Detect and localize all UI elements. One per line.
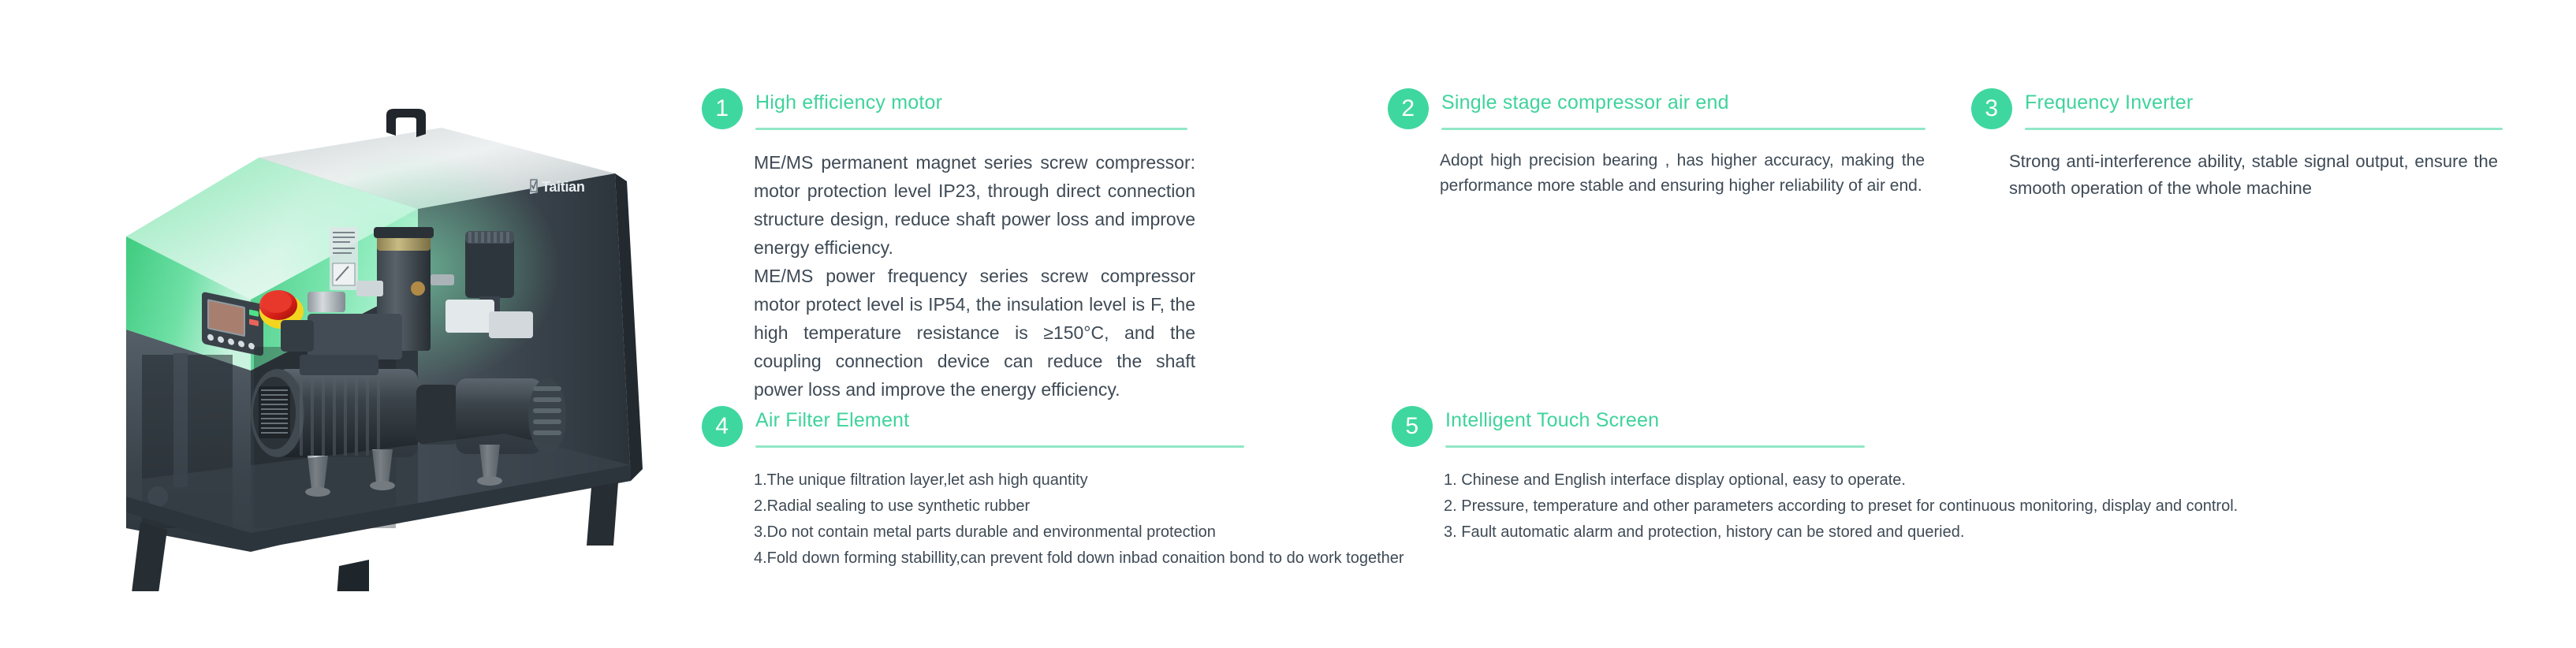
feature-3-header: 3 Frequency Inverter xyxy=(1971,88,2523,134)
feature-2-paragraph-1: Adopt high precision bearing , has highe… xyxy=(1440,148,1925,199)
compressor-illustration: Taitian xyxy=(47,39,678,591)
feature-2-header: 2 Single stage compressor air end xyxy=(1388,88,1924,134)
feature-3-divider xyxy=(2025,128,2503,130)
feature-1-paragraph-1: ME/MS permanent magnet series screw comp… xyxy=(754,148,1195,262)
svg-text:Taitian: Taitian xyxy=(542,179,585,195)
list-item: 4.Fold down forming stabillity,can preve… xyxy=(754,546,1356,572)
leg-front-right xyxy=(334,560,369,591)
feature-block-4: 4 Air Filter Element 1.The unique filtra… xyxy=(702,406,1356,587)
list-item: 1. Chinese and English interface display… xyxy=(1444,467,2180,493)
feature-block-1: 1 High efficiency motor ME/MS permanent … xyxy=(702,88,1199,404)
feature-2-title: Single stage compressor air end xyxy=(1441,91,1729,114)
feature-5-title: Intelligent Touch Screen xyxy=(1445,409,1659,432)
feature-2-divider xyxy=(1441,128,1925,130)
feature-4-header: 4 Air Filter Element xyxy=(702,406,1356,452)
feature-block-3: 3 Frequency Inverter Strong anti-interfe… xyxy=(1971,88,2523,202)
feature-1-paragraph-2: ME/MS power frequency series screw compr… xyxy=(754,262,1195,404)
feature-5-divider xyxy=(1445,445,1865,448)
feature-1-header: 1 High efficiency motor xyxy=(702,88,1199,134)
feature-3-body: Strong anti-interference ability, stable… xyxy=(2009,148,2498,202)
list-item: 1.The unique filtration layer,let ash hi… xyxy=(754,467,1356,493)
feature-1-title: High efficiency motor xyxy=(755,91,942,114)
feature-5-header: 5 Intelligent Touch Screen xyxy=(1392,406,2180,452)
leg-front-left xyxy=(131,522,167,591)
feature-4-list: 1.The unique filtration layer,let ash hi… xyxy=(754,467,1356,572)
leg-rear-right xyxy=(587,482,618,546)
feature-3-badge: 3 xyxy=(1971,88,2012,129)
product-image: Taitian xyxy=(47,39,678,591)
feature-5-badge: 5 xyxy=(1392,406,1433,447)
feature-3-paragraph-1: Strong anti-interference ability, stable… xyxy=(2009,148,2498,202)
feature-1-divider xyxy=(755,128,1187,130)
feature-3-title: Frequency Inverter xyxy=(2025,91,2193,114)
feature-1-badge: 1 xyxy=(702,88,743,129)
feature-4-divider xyxy=(755,445,1244,448)
list-item: 3.Do not contain metal parts durable and… xyxy=(754,520,1356,546)
warning-label xyxy=(330,227,358,290)
feature-2-body: Adopt high precision bearing , has highe… xyxy=(1440,148,1925,199)
electric-motor xyxy=(251,355,418,457)
feature-1-body: ME/MS permanent magnet series screw comp… xyxy=(754,148,1195,404)
feature-5-list: 1. Chinese and English interface display… xyxy=(1444,467,2180,546)
list-item: 2.Radial sealing to use synthetic rubber xyxy=(754,493,1356,520)
lift-handle xyxy=(386,109,426,137)
list-item: 3. Fault automatic alarm and protection,… xyxy=(1444,520,2180,546)
feature-2-badge: 2 xyxy=(1388,88,1429,129)
feature-4-title: Air Filter Element xyxy=(755,409,909,432)
feature-block-2: 2 Single stage compressor air end Adopt … xyxy=(1388,88,1924,199)
feature-4-badge: 4 xyxy=(702,406,743,447)
feature-block-5: 5 Intelligent Touch Screen 1. Chinese an… xyxy=(1392,406,2180,561)
list-item: 2. Pressure, temperature and other param… xyxy=(1444,493,2180,520)
